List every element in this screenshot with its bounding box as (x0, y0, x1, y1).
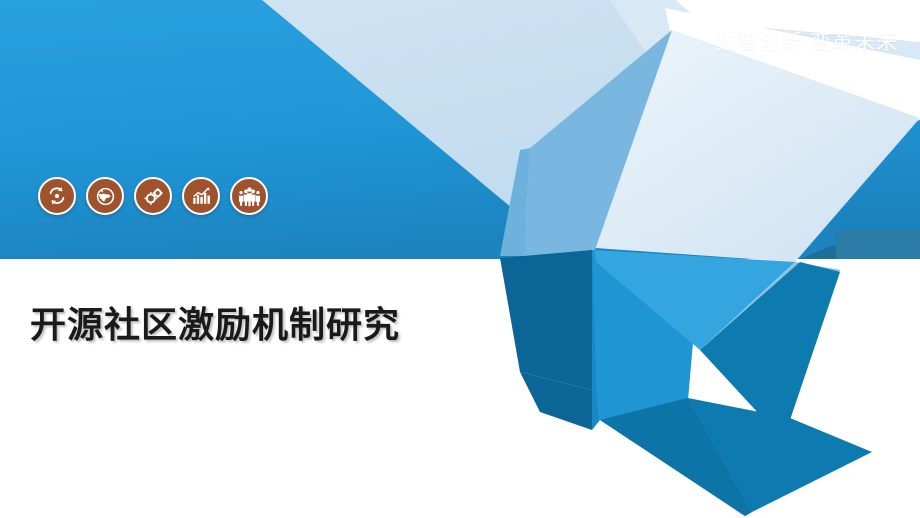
feature-icon-row (38, 177, 268, 215)
bar-chart-growth-glyph (190, 185, 212, 207)
corner-steel-repeat (835, 230, 920, 259)
people-group-glyph (238, 185, 261, 208)
globe-icon[interactable] (86, 177, 124, 215)
page-title: 开源社区激励机制研究 (30, 296, 400, 348)
globe-glyph (95, 186, 116, 207)
presentation-slide: 数智创新 变革未来 (0, 0, 920, 518)
gears-icon[interactable] (134, 177, 172, 215)
recycle-arrows-icon[interactable] (38, 177, 76, 215)
slide-tagline: 数智创新 变革未来 (715, 26, 898, 56)
people-group-icon[interactable] (230, 177, 268, 215)
gears-glyph (142, 185, 165, 208)
recycle-arrows-glyph (46, 185, 68, 207)
bar-chart-growth-icon[interactable] (182, 177, 220, 215)
background-polygon-art (0, 0, 920, 518)
